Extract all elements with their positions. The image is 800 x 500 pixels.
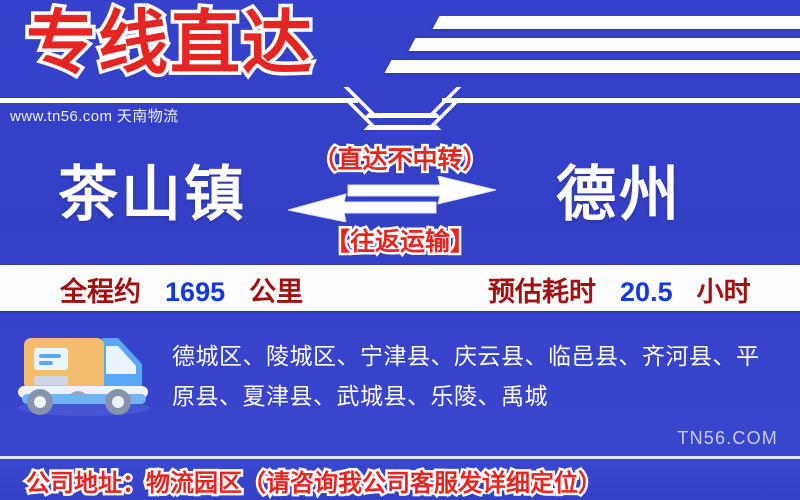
decorative-stripe-1 [433, 16, 800, 29]
company-address: 公司地址：物流园区（请咨询我公司客服发详细定位） [26, 463, 602, 498]
header-divider-left [0, 98, 358, 103]
bidirectional-arrow-icon [288, 176, 496, 222]
footer-divider [0, 456, 800, 459]
distance-group: 全程约 1695 公里 [60, 270, 303, 309]
site-branding: www.tn56.com 天南物流 [10, 105, 179, 126]
header-divider-right [442, 98, 800, 103]
duration-label: 预估耗时 [488, 277, 596, 307]
duration-unit: 小时 [697, 277, 751, 307]
round-trip-badge: 【往返运输】 [0, 222, 800, 258]
duration-group: 预估耗时 20.5 小时 [488, 270, 751, 309]
logistics-route-banner: 专线直达 www.tn56.com 天南物流 茶山镇 德州 （直达不中转） 【往… [0, 0, 800, 500]
trip-info-band: 全程约 1695 公里 预估耗时 20.5 小时 [0, 265, 800, 311]
coverage-area-list: 德城区、陵城区、宁津县、庆云县、临邑县、齐河县、平原县、夏津县、武城县、乐陵、禹… [172, 336, 782, 416]
distance-value: 1695 [165, 277, 225, 307]
decorative-stripe-2 [409, 38, 800, 51]
delivery-truck-icon [8, 316, 166, 420]
watermark-label: TN56.COM [677, 428, 778, 449]
distance-label: 全程约 [60, 277, 141, 307]
decorative-stripe-3 [385, 60, 800, 73]
direct-service-badge: （直达不中转） [0, 140, 800, 176]
page-title: 专线直达 [26, 2, 314, 84]
distance-unit: 公里 [249, 277, 303, 307]
duration-value: 20.5 [620, 277, 673, 307]
